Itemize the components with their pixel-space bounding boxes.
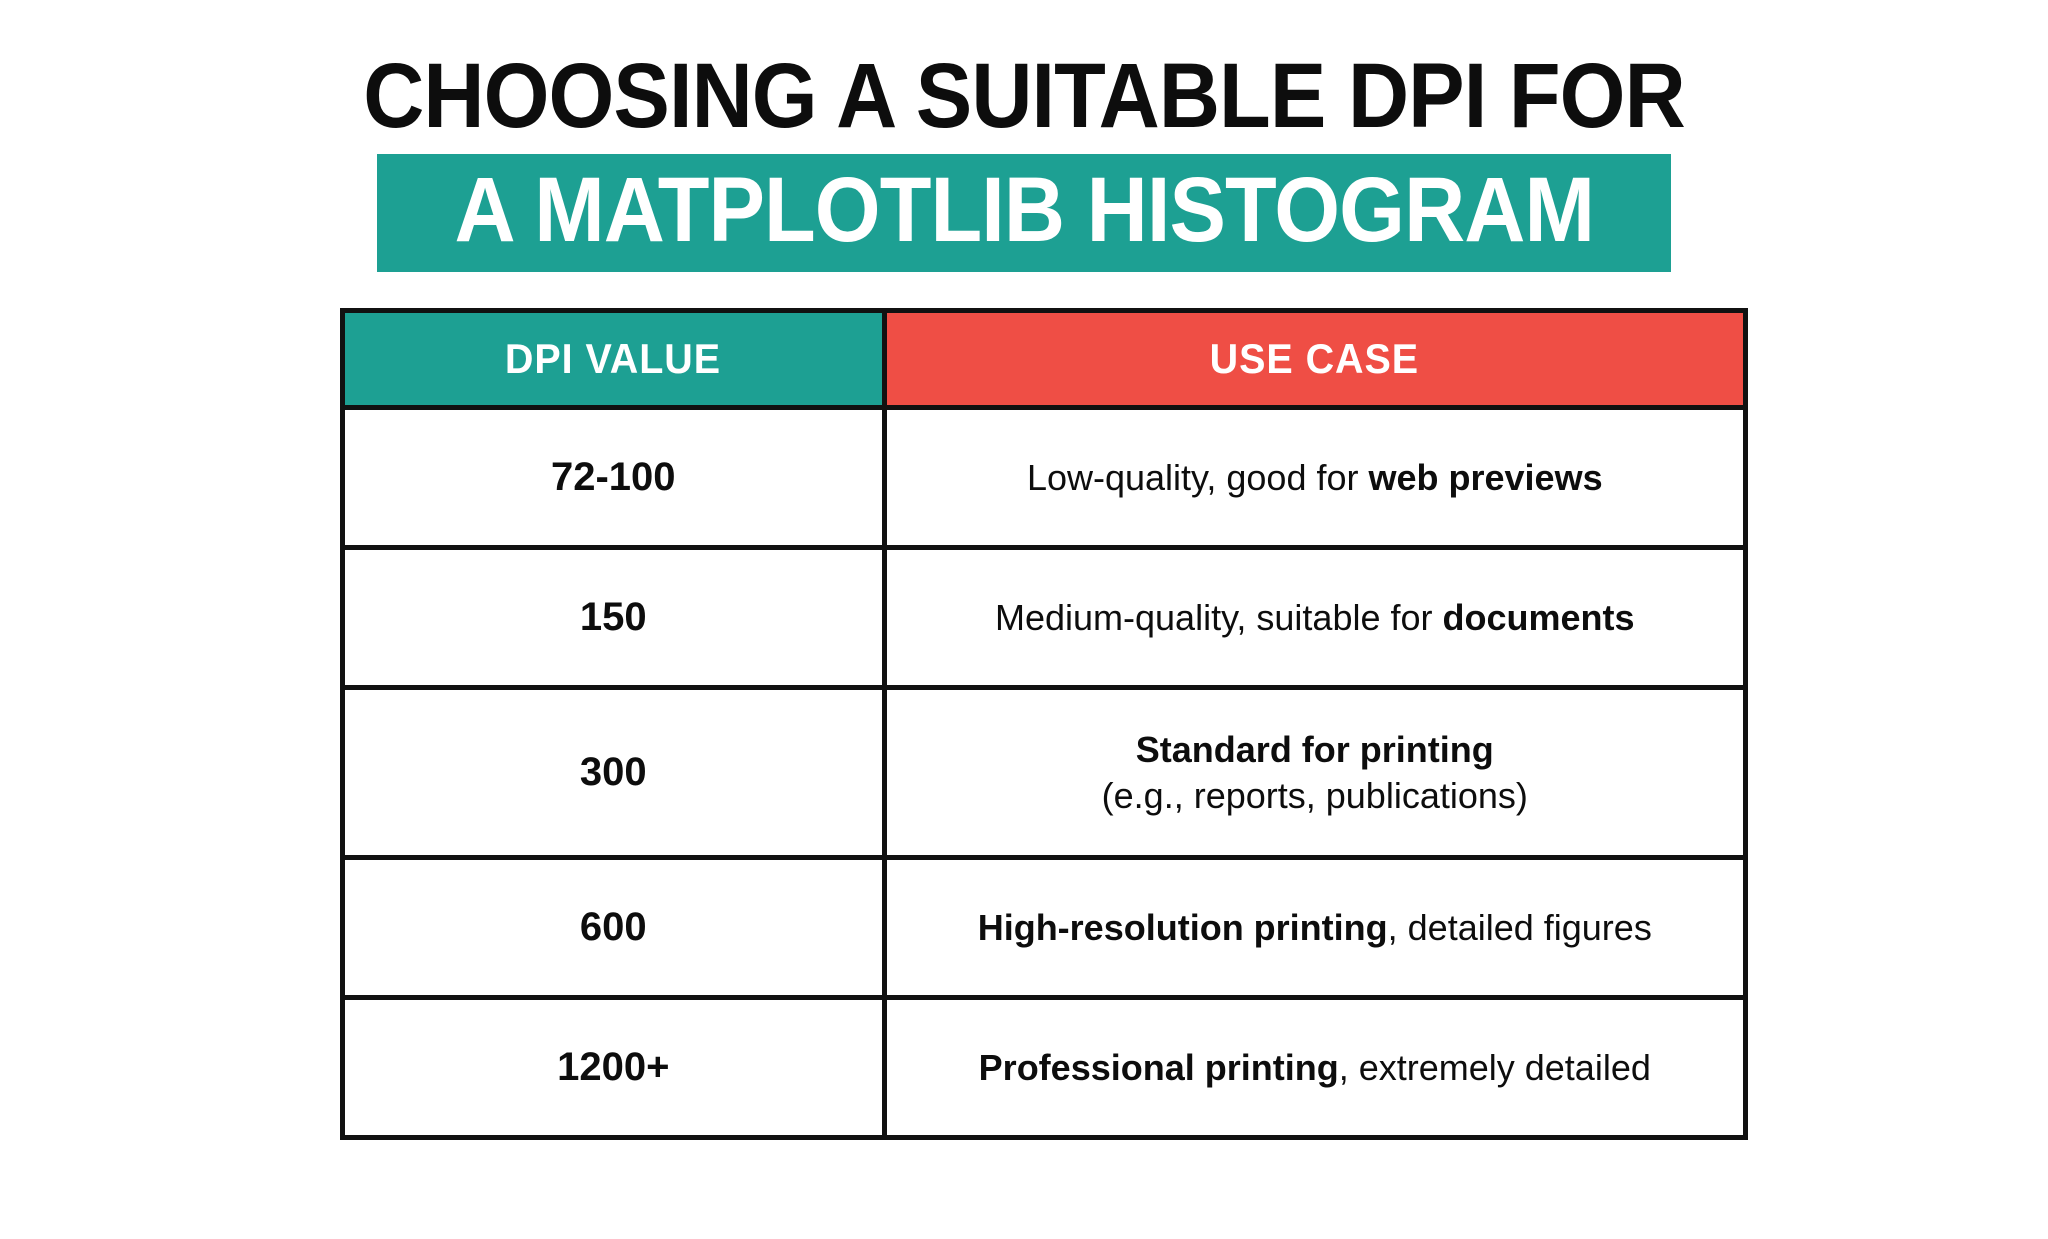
table-row: 300Standard for printing(e.g., reports, … <box>343 688 1746 858</box>
use-case-text-bold: High-resolution printing <box>978 907 1388 948</box>
cell-dpi-value: 600 <box>343 858 885 998</box>
use-case-line: Medium-quality, suitable for documents <box>887 595 1743 641</box>
use-case-text-regular: , detailed figures <box>1388 907 1652 948</box>
column-header-use-case-label: USE CASE <box>1210 335 1419 383</box>
use-case-text-regular: Medium-quality, suitable for <box>995 597 1443 638</box>
column-header-dpi-value-label: DPI VALUE <box>505 335 721 383</box>
use-case-line: Standard for printing <box>887 727 1743 773</box>
dpi-table-container: DPI VALUE USE CASE 72-100Low-quality, go… <box>340 308 1748 1140</box>
table-row: 600High-resolution printing, detailed fi… <box>343 858 1746 998</box>
page-title-line-1: CHOOSING A SUITABLE DPI FOR <box>82 48 1966 144</box>
table-header: DPI VALUE USE CASE <box>343 311 1746 408</box>
use-case-line: Professional printing, extremely detaile… <box>887 1045 1743 1091</box>
cell-use-case: Medium-quality, suitable for documents <box>884 548 1745 688</box>
title-banner-wrapper: A MATPLOTLIB HISTOGRAM <box>0 154 2048 272</box>
cell-use-case: Standard for printing(e.g., reports, pub… <box>884 688 1745 858</box>
table-row: 1200+Professional printing, extremely de… <box>343 998 1746 1138</box>
cell-dpi-value: 72-100 <box>343 408 885 548</box>
cell-dpi-value: 150 <box>343 548 885 688</box>
table-body: 72-100Low-quality, good for web previews… <box>343 408 1746 1138</box>
use-case-line: Low-quality, good for web previews <box>887 455 1743 501</box>
use-case-text-bold: documents <box>1443 597 1635 638</box>
use-case-text-regular: Low-quality, good for <box>1027 457 1369 498</box>
use-case-text-regular: (e.g., reports, publications) <box>1102 775 1528 816</box>
use-case-text-bold: Standard for printing <box>1136 729 1494 770</box>
table-header-row: DPI VALUE USE CASE <box>343 311 1746 408</box>
page-title-line-2: A MATPLOTLIB HISTOGRAM <box>454 162 1594 258</box>
cell-dpi-value: 1200+ <box>343 998 885 1138</box>
title-banner: A MATPLOTLIB HISTOGRAM <box>377 154 1672 272</box>
use-case-text-bold: web previews <box>1368 457 1602 498</box>
use-case-line: (e.g., reports, publications) <box>887 773 1743 819</box>
cell-dpi-value: 300 <box>343 688 885 858</box>
infographic-page: CHOOSING A SUITABLE DPI FOR A MATPLOTLIB… <box>0 0 2048 1239</box>
cell-use-case: Professional printing, extremely detaile… <box>884 998 1745 1138</box>
cell-use-case: High-resolution printing, detailed figur… <box>884 858 1745 998</box>
column-header-dpi-value: DPI VALUE <box>343 311 885 408</box>
column-header-use-case: USE CASE <box>884 311 1745 408</box>
use-case-line: High-resolution printing, detailed figur… <box>887 905 1743 951</box>
dpi-table: DPI VALUE USE CASE 72-100Low-quality, go… <box>340 308 1748 1140</box>
cell-use-case: Low-quality, good for web previews <box>884 408 1745 548</box>
title-block: CHOOSING A SUITABLE DPI FOR A MATPLOTLIB… <box>0 48 2048 272</box>
use-case-text-regular: , extremely detailed <box>1339 1047 1651 1088</box>
table-row: 72-100Low-quality, good for web previews <box>343 408 1746 548</box>
table-row: 150Medium-quality, suitable for document… <box>343 548 1746 688</box>
use-case-text-bold: Professional printing <box>979 1047 1339 1088</box>
